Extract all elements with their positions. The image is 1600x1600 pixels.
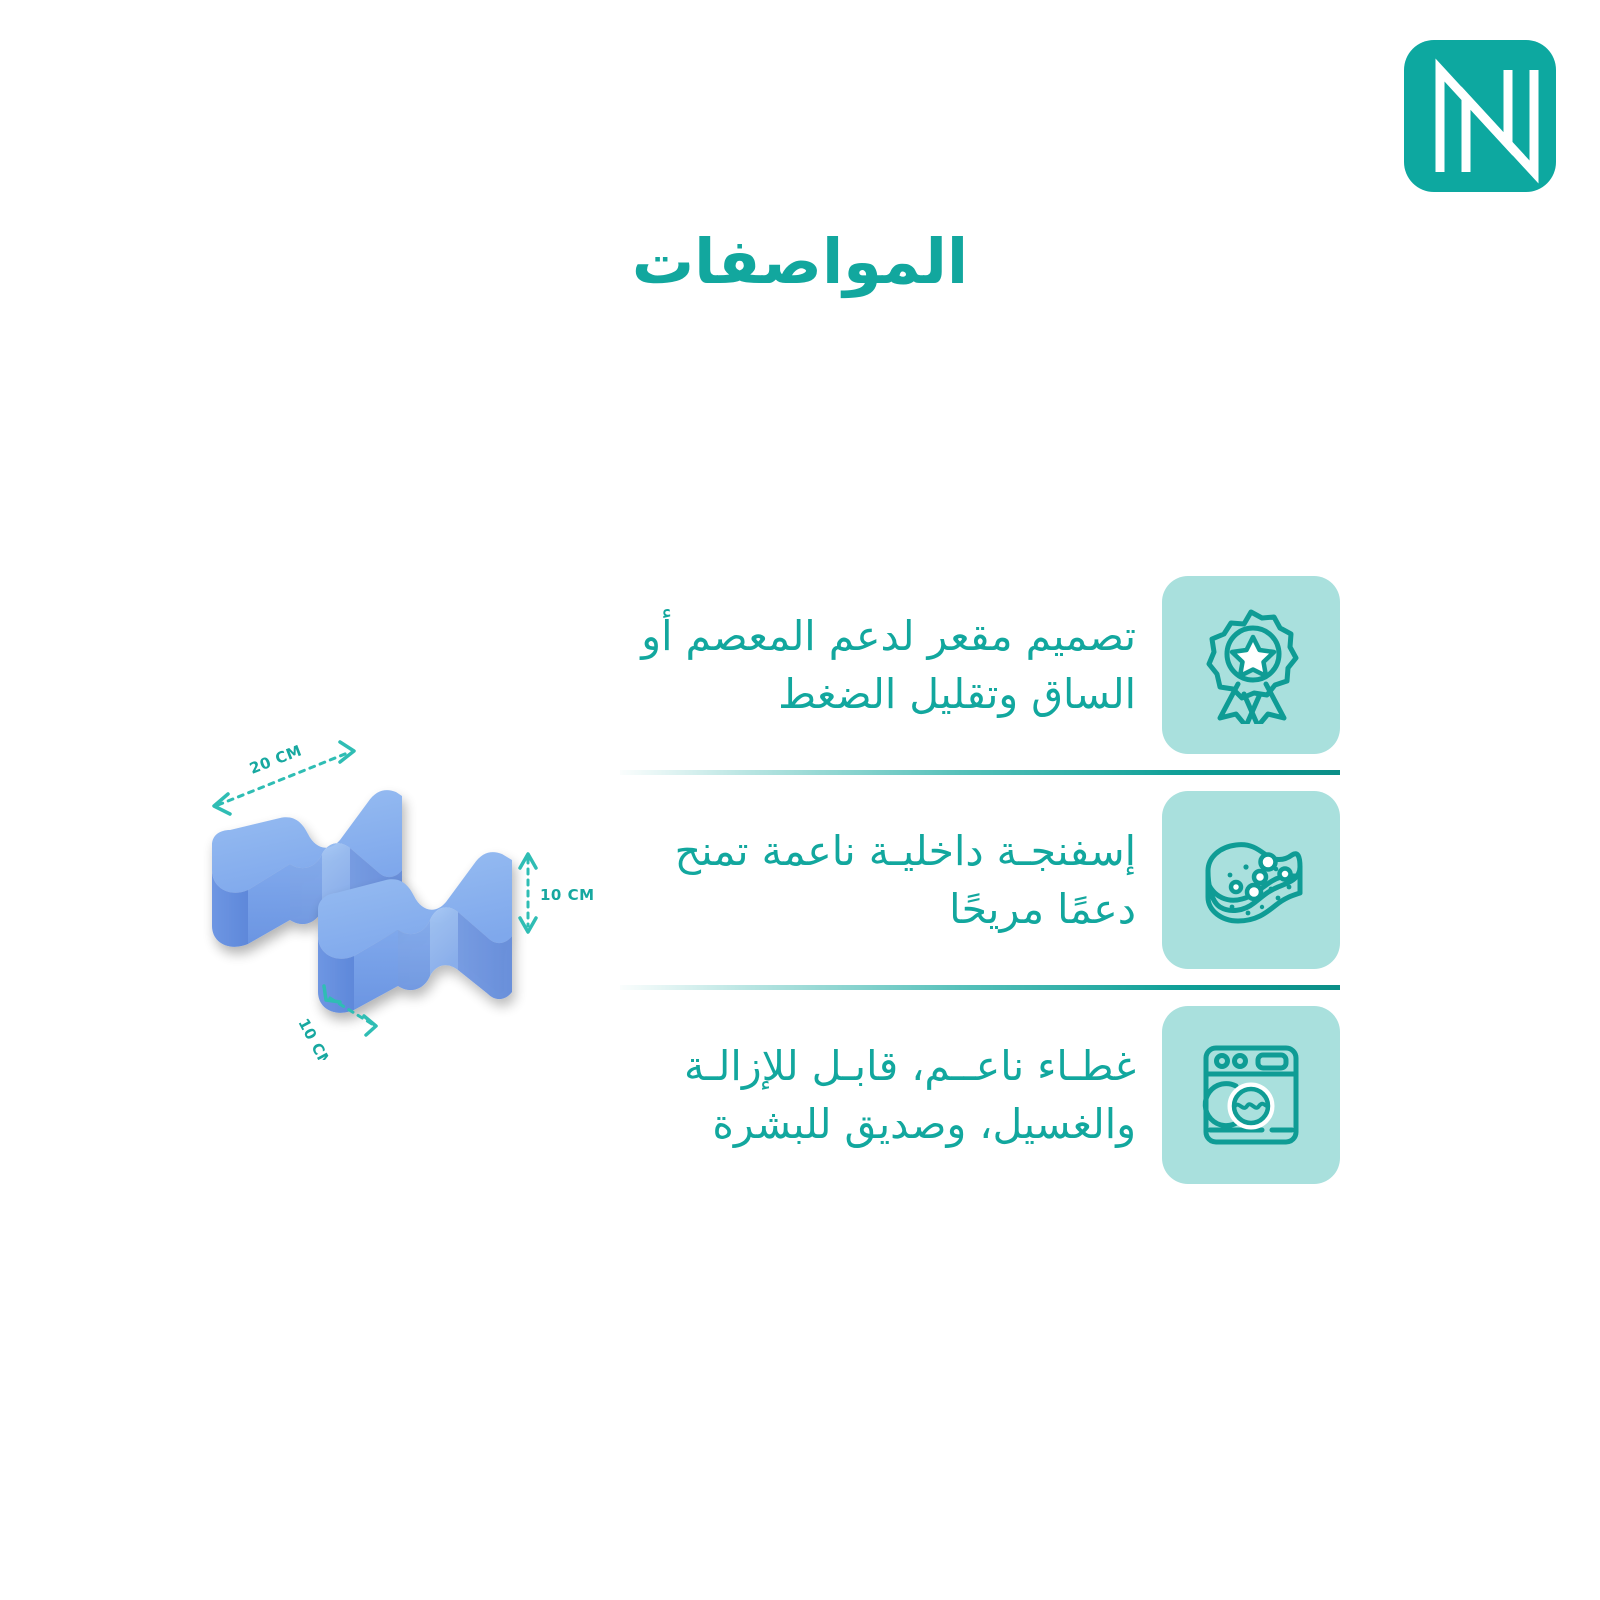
feature-text: غطـاء ناعــم، قابـل للإزالـة والغسيل، وص… bbox=[620, 1037, 1162, 1153]
svg-text:10 CM: 10 CM bbox=[294, 1015, 335, 1060]
feature-list: تصميم مقعر لدعم المعصم أو الساق وتقليل ا… bbox=[620, 560, 1340, 1200]
award-badge-icon bbox=[1162, 576, 1340, 754]
feature-row-washable-cover: غطـاء ناعــم، قابـل للإزالـة والغسيل، وص… bbox=[620, 990, 1340, 1200]
feature-row-contoured-design: تصميم مقعر لدعم المعصم أو الساق وتقليل ا… bbox=[620, 560, 1340, 770]
dimension-height: 10 CM bbox=[520, 854, 595, 932]
sponge-icon bbox=[1162, 791, 1340, 969]
washing-machine-icon bbox=[1162, 1006, 1340, 1184]
product-image: 20 CM 10 CM 10 CM bbox=[190, 730, 660, 1060]
svg-text:20 CM: 20 CM bbox=[247, 741, 304, 777]
nn-monogram-logo-icon bbox=[1404, 40, 1556, 192]
specifications-page: المواصفات bbox=[0, 0, 1600, 1600]
feature-text: تصميم مقعر لدعم المعصم أو الساق وتقليل ا… bbox=[620, 607, 1162, 723]
feature-text: إسفنجـة داخليـة ناعمة تمنح دعمًا مريحًا bbox=[620, 822, 1162, 938]
page-title: المواصفات bbox=[0, 228, 1600, 296]
feature-row-soft-inner-sponge: إسفنجـة داخليـة ناعمة تمنح دعمًا مريحًا bbox=[620, 775, 1340, 985]
svg-text:10 CM: 10 CM bbox=[540, 886, 595, 904]
dimension-width: 20 CM bbox=[214, 741, 354, 814]
